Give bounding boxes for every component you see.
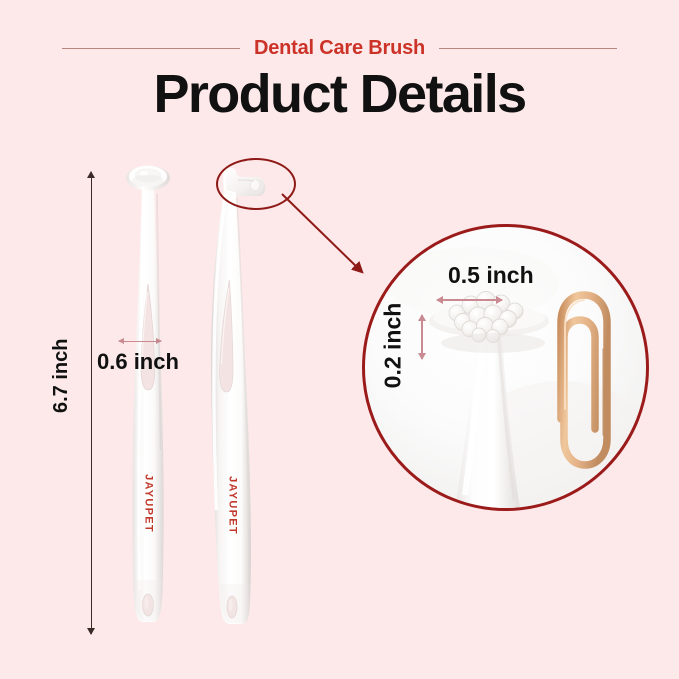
arrow-up-icon <box>87 171 95 178</box>
measure-line <box>91 172 92 634</box>
handle-width-measure-line <box>119 341 161 343</box>
brush-side-view <box>196 160 286 640</box>
eyebrow-row: Dental Care Brush <box>0 36 679 60</box>
product-infographic: Dental Care Brush Product Details <box>0 0 679 679</box>
head-width-measure-line <box>437 299 502 301</box>
label-head-width: 0.5 inch <box>448 264 534 287</box>
arrow-left-icon <box>436 296 443 304</box>
label-head-height: 0.2 inch <box>382 296 405 396</box>
arrow-right-icon <box>156 338 162 344</box>
header: Dental Care Brush Product Details <box>0 0 679 140</box>
length-measure-line <box>91 172 93 634</box>
arrow-pointer-icon <box>280 192 376 284</box>
divider-rule-right <box>439 48 617 49</box>
brand-logo-side: JAYUPET <box>227 476 238 536</box>
label-overall-length: 6.7 inch <box>51 343 71 413</box>
arrow-right-icon <box>496 296 503 304</box>
arrow-left-icon <box>118 338 124 344</box>
arrow-down-icon <box>87 628 95 635</box>
brand-logo-front: JAYUPET <box>143 474 154 534</box>
label-handle-width: 0.6 inch <box>97 351 179 373</box>
arrow-down-icon <box>418 353 426 360</box>
brush-front-view <box>108 160 188 640</box>
head-height-measure-line <box>421 315 423 359</box>
measure-line <box>437 299 502 301</box>
divider-rule-left <box>62 48 240 49</box>
ellipse-highlight-icon <box>216 158 296 210</box>
eyebrow-text: Dental Care Brush <box>254 38 425 58</box>
arrow-up-icon <box>418 314 426 321</box>
measure-line <box>119 341 161 342</box>
page-title: Product Details <box>0 66 679 123</box>
